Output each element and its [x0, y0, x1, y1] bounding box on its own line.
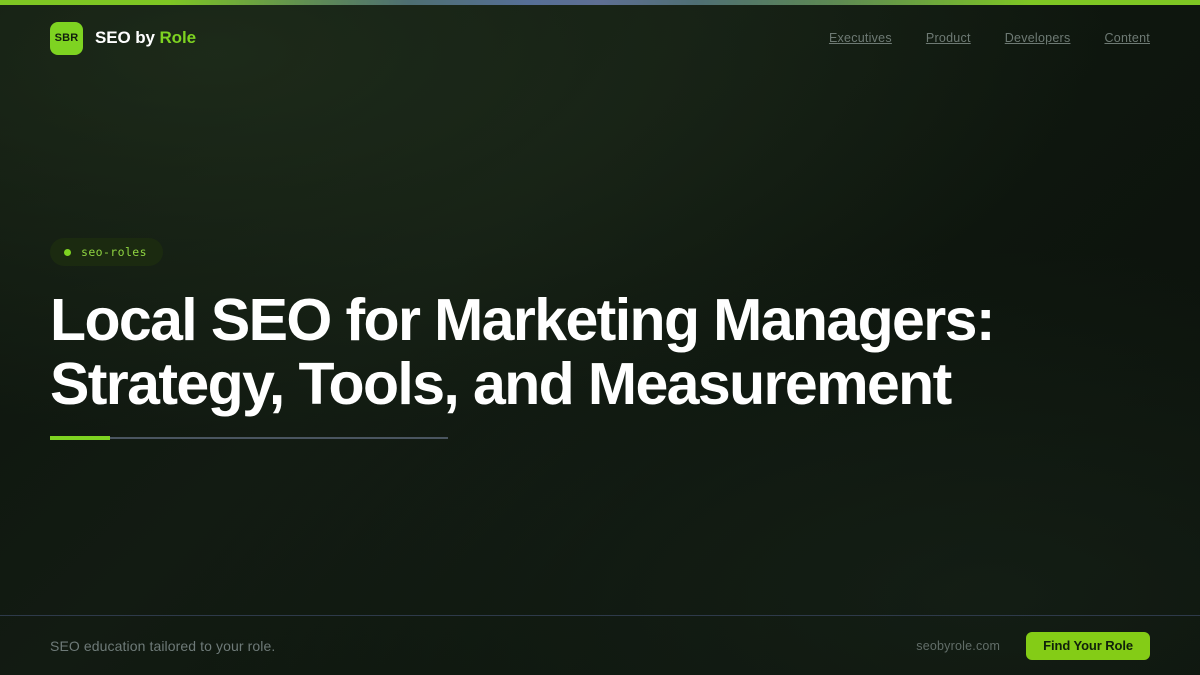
nav-item-developers[interactable]: Developers [1005, 31, 1071, 45]
brand-badge-icon: SBR [50, 22, 83, 55]
title-divider [50, 437, 448, 439]
brand-name-accent: Role [160, 28, 196, 47]
page-title: Local SEO for Marketing Managers: Strate… [50, 288, 1090, 416]
footer-actions: seobyrole.com Find Your Role [916, 632, 1150, 660]
brand-logo[interactable]: SBR SEO by Role [50, 21, 196, 55]
category-badge-label: seo-roles [81, 245, 147, 259]
category-badge: seo-roles [50, 238, 163, 266]
status-dot-icon [64, 249, 71, 256]
brand-name-primary: SEO by [95, 28, 155, 47]
hero-section: seo-roles Local SEO for Marketing Manage… [50, 238, 1090, 439]
site-header: SBR SEO by Role Executives Product Devel… [0, 5, 1200, 71]
nav-item-content[interactable]: Content [1104, 31, 1150, 45]
page-title-line-1: Local SEO for Marketing Managers: [50, 288, 1090, 352]
brand-name: SEO by Role [95, 28, 196, 48]
footer-tagline: SEO education tailored to your role. [50, 638, 275, 654]
find-your-role-button[interactable]: Find Your Role [1026, 632, 1150, 660]
nav-item-executives[interactable]: Executives [829, 31, 892, 45]
site-footer: SEO education tailored to your role. seo… [0, 615, 1200, 675]
page-root: SBR SEO by Role Executives Product Devel… [0, 0, 1200, 675]
page-title-line-2: Strategy, Tools, and Measurement [50, 352, 1090, 416]
nav-item-product[interactable]: Product [926, 31, 971, 45]
footer-domain: seobyrole.com [916, 639, 1000, 653]
main-nav: Executives Product Developers Content [829, 31, 1150, 45]
